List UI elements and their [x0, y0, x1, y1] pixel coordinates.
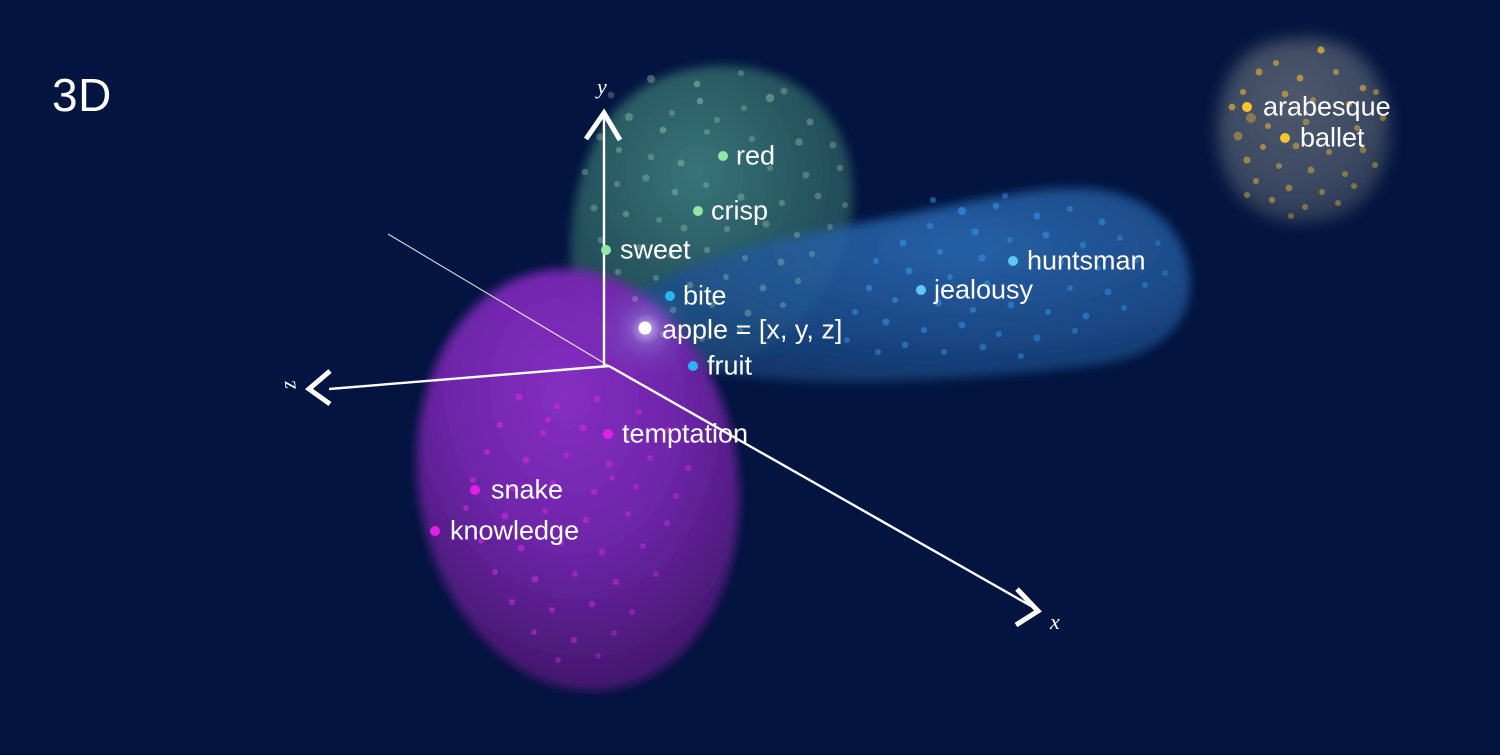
axis-line-x-front — [609, 366, 1031, 606]
axes-layer — [0, 0, 1500, 755]
axis-line-z — [329, 366, 609, 389]
embedding-space-canvas: 3D y x z red crisp sweet bite fruit jeal… — [0, 0, 1500, 755]
axis-arrow-x — [1016, 589, 1038, 625]
axis-line-x — [388, 234, 609, 366]
axis-arrow-z — [309, 371, 330, 404]
